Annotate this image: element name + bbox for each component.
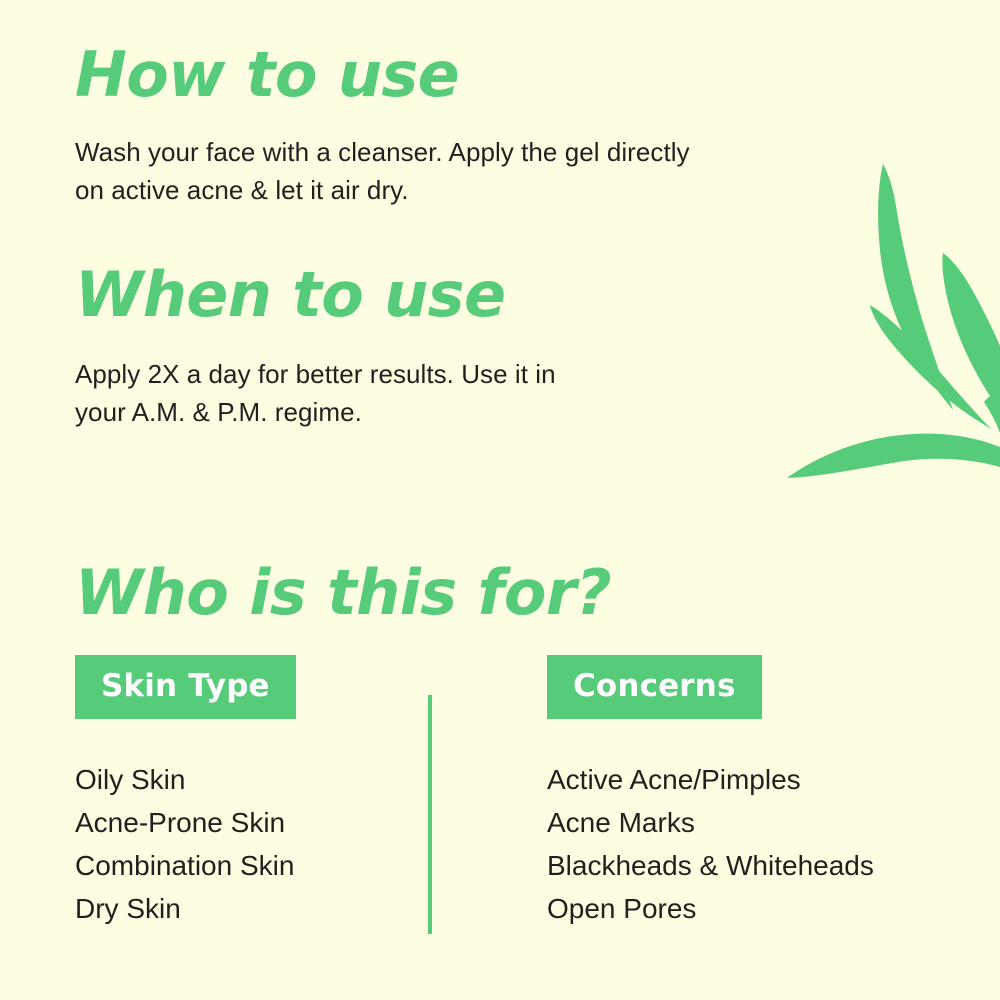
heading-how-to-use: How to use [75,44,459,106]
list-item: Open Pores [547,887,874,930]
list-item: Acne Marks [547,801,874,844]
copy-line: your A.M. & P.M. regime. [75,393,775,431]
column-concerns: Concerns Active Acne/Pimples Acne Marks … [547,655,874,930]
list-item: Blackheads & Whiteheads [547,844,874,887]
copy-how-to-use: Wash your face with a cleanser. Apply th… [75,133,855,210]
copy-line: on active acne & let it air dry. [75,171,855,209]
list-item: Oily Skin [75,758,296,801]
copy-line: Wash your face with a cleanser. Apply th… [75,133,855,171]
copy-when-to-use: Apply 2X a day for better results. Use i… [75,355,775,432]
list-item: Combination Skin [75,844,296,887]
list-item: Active Acne/Pimples [547,758,874,801]
list-item: Dry Skin [75,887,296,930]
copy-line: Apply 2X a day for better results. Use i… [75,355,775,393]
list-skin-type: Oily Skin Acne-Prone Skin Combination Sk… [75,758,296,930]
badge-skin-type: Skin Type [75,655,296,719]
badge-concerns: Concerns [547,655,762,719]
heading-who-is-this-for: Who is this for? [75,562,611,624]
list-concerns: Active Acne/Pimples Acne Marks Blackhead… [547,758,874,930]
column-skin-type: Skin Type Oily Skin Acne-Prone Skin Comb… [75,655,296,930]
audience-columns: Skin Type Oily Skin Acne-Prone Skin Comb… [0,655,1000,945]
heading-when-to-use: When to use [75,264,505,326]
product-info-panel: How to use Wash your face with a cleanse… [0,0,1000,1000]
column-divider [428,695,432,934]
list-item: Acne-Prone Skin [75,801,296,844]
